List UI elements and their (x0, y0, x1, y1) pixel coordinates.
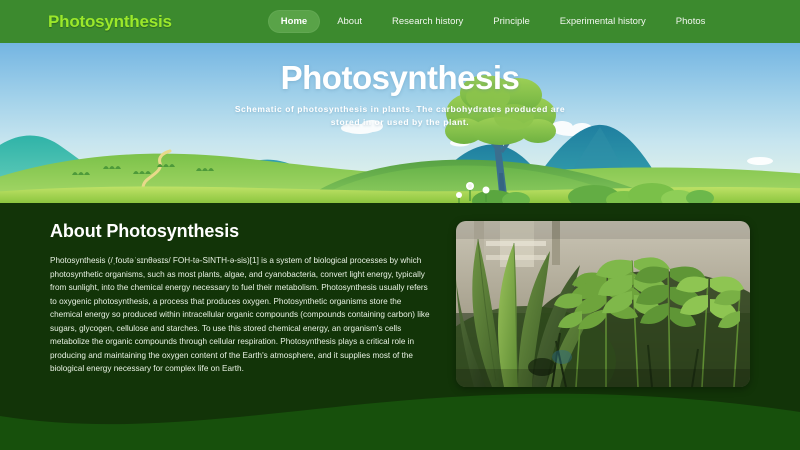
hero-banner: Photosynthesis Schematic of photosynthes… (0, 43, 800, 203)
about-section: About Photosynthesis Photosynthesis (/ˌf… (0, 203, 800, 450)
main-navigation: Home About Research history Principle Ex… (268, 10, 719, 33)
about-photo[interactable] (456, 221, 750, 387)
nav-item-experimental-history[interactable]: Experimental history (547, 10, 659, 33)
foliage-photo-illustration (456, 221, 750, 387)
nav-item-about[interactable]: About (324, 10, 375, 33)
about-text-column: About Photosynthesis Photosynthesis (/ˌf… (50, 221, 434, 387)
site-logo[interactable]: Photosynthesis (48, 12, 172, 32)
hero-landscape-illustration (0, 43, 800, 203)
nav-item-principle[interactable]: Principle (480, 10, 542, 33)
nav-item-photos[interactable]: Photos (663, 10, 719, 33)
webpage-root: Photosynthesis Home About Research histo… (0, 0, 800, 450)
about-layout: About Photosynthesis Photosynthesis (/ˌf… (0, 203, 800, 387)
about-image-column (456, 221, 750, 387)
site-header: Photosynthesis Home About Research histo… (0, 0, 800, 43)
nav-item-home[interactable]: Home (268, 10, 320, 33)
nav-item-research-history[interactable]: Research history (379, 10, 476, 33)
about-paragraph: Photosynthesis (/ˌfoʊtəˈsɪnθəsɪs/ FOH-tə… (50, 254, 434, 376)
about-heading: About Photosynthesis (50, 221, 434, 242)
